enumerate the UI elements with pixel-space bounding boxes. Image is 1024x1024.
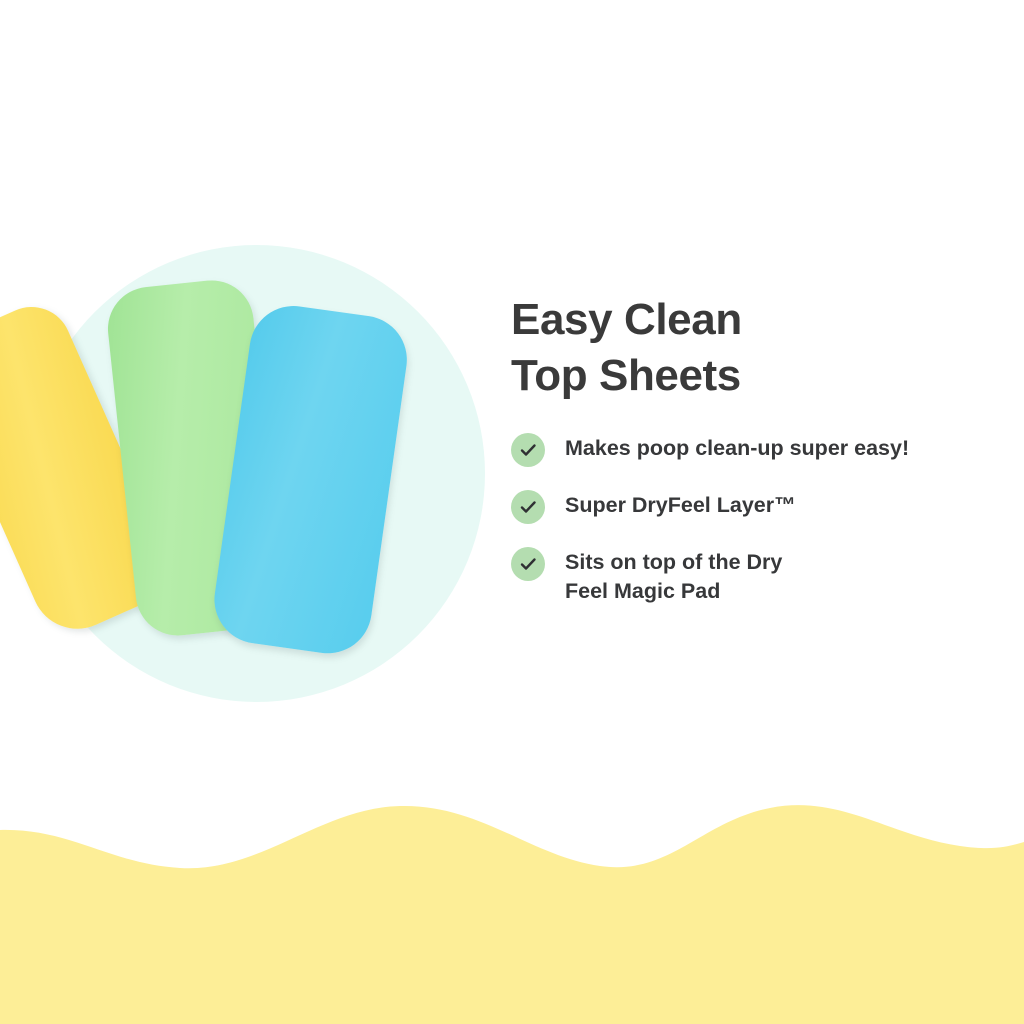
check-icon xyxy=(511,490,545,524)
copy-block: Easy Clean Top Sheets Makes poop clean-u… xyxy=(511,292,981,628)
check-icon xyxy=(511,547,545,581)
page-title: Easy Clean Top Sheets xyxy=(511,292,981,404)
promo-banner: Easy Clean Top Sheets Makes poop clean-u… xyxy=(0,0,1024,1024)
product-image xyxy=(0,230,500,720)
feature-item-2: Super DryFeel Layer™ xyxy=(511,489,981,524)
bottom-wave-decoration xyxy=(0,794,1024,1024)
feature-item-3: Sits on top of the Dry Feel Magic Pad xyxy=(511,546,981,606)
feature-label-3: Sits on top of the Dry Feel Magic Pad xyxy=(565,546,782,606)
check-icon xyxy=(511,433,545,467)
wave-shape xyxy=(0,805,1024,1024)
feature-label-1: Makes poop clean-up super easy! xyxy=(565,432,909,463)
feature-label-2: Super DryFeel Layer™ xyxy=(565,489,796,520)
feature-item-1: Makes poop clean-up super easy! xyxy=(511,432,981,467)
